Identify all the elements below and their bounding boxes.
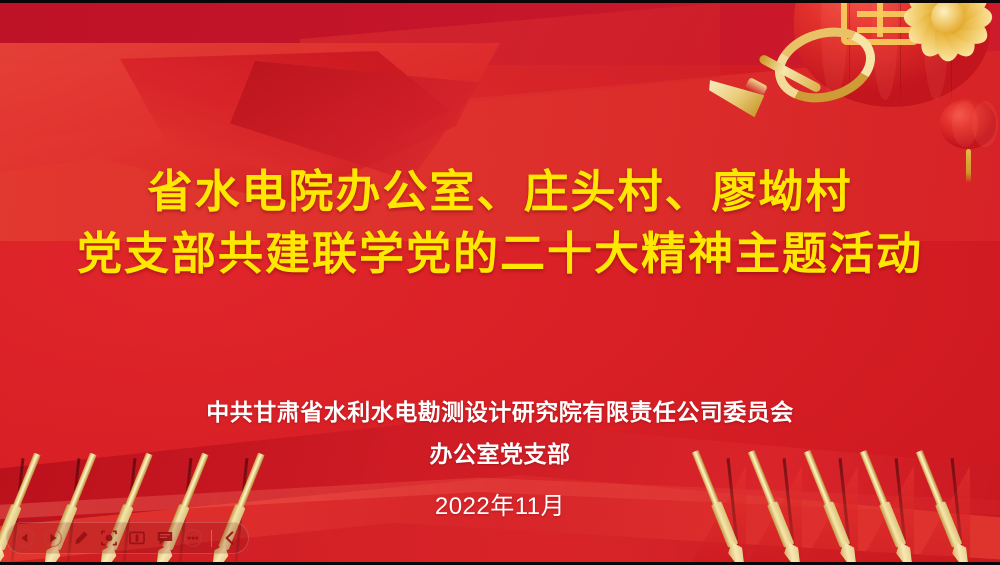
presentation-toolbar[interactable] bbox=[6, 522, 249, 554]
lantern-rib bbox=[972, 101, 998, 147]
brush-ring bbox=[766, 16, 884, 113]
slide-subtitle: 中共甘肃省水利水电勘测设计研究院有限责任公司委员会 办公室党支部 bbox=[0, 391, 1000, 475]
presentation-slide: 省水电院办公室、庄头村、廖坳村 党支部共建联学党的二十大精神主题活动 中共甘肃省… bbox=[0, 0, 1000, 565]
flower-petal bbox=[936, 9, 982, 62]
top-color-band bbox=[0, 3, 1000, 65]
lantern-rib bbox=[872, 0, 898, 100]
silk-ribbon-back bbox=[300, 3, 720, 123]
subtitle-line-1: 中共甘肃省水利水电勘测设计研究院有限责任公司委员会 bbox=[0, 391, 1000, 433]
lantern-icon bbox=[794, 0, 990, 107]
whiteboard-button[interactable] bbox=[123, 525, 151, 551]
pole-tip bbox=[837, 539, 862, 565]
lantern-rib bbox=[900, 0, 901, 100]
fu-character-emblem bbox=[841, 0, 919, 45]
gold-flower-icon bbox=[896, 0, 1000, 65]
slide-title: 省水电院办公室、庄头村、廖坳村 党支部共建联学党的二十大精神主题活动 bbox=[0, 161, 1000, 285]
collapse-toolbar-button[interactable] bbox=[216, 525, 244, 551]
flower-petal bbox=[940, 0, 993, 29]
lantern-body bbox=[794, 0, 990, 107]
pen-button[interactable] bbox=[67, 525, 95, 551]
play-button[interactable] bbox=[39, 525, 67, 551]
previous-slide-button[interactable] bbox=[11, 525, 39, 551]
flower-petal bbox=[903, 0, 956, 29]
flower-petal bbox=[935, 15, 961, 61]
more-options-button[interactable] bbox=[179, 525, 207, 551]
lantern-rib bbox=[821, 0, 847, 100]
lantern-body bbox=[940, 99, 996, 149]
comment-button[interactable] bbox=[151, 525, 179, 551]
flower-petal bbox=[936, 0, 982, 25]
brush-handle bbox=[758, 54, 822, 94]
lantern-rib bbox=[951, 0, 952, 100]
brush-tip bbox=[704, 73, 765, 118]
pole-tip bbox=[949, 539, 974, 565]
flower-petal bbox=[915, 9, 961, 62]
flower-petal bbox=[940, 5, 993, 51]
flower-petal bbox=[904, 4, 950, 30]
spotlight-button[interactable] bbox=[95, 525, 123, 551]
lantern-rib bbox=[849, 0, 850, 100]
flower-petal bbox=[915, 0, 961, 25]
brush-ferrule bbox=[744, 77, 768, 98]
flower-core bbox=[931, 0, 965, 34]
lantern-rib bbox=[923, 0, 949, 100]
flower-petal bbox=[935, 0, 961, 19]
pole-tip bbox=[0, 542, 8, 565]
date-text: 2022年11月 bbox=[0, 492, 1000, 522]
title-line-1: 省水电院办公室、庄头村、廖坳村 bbox=[0, 161, 1000, 223]
pole-tip bbox=[893, 539, 918, 565]
lantern-rib bbox=[952, 101, 978, 147]
lantern-small-icon bbox=[940, 99, 996, 149]
toolbar-divider bbox=[211, 530, 212, 547]
calligraphy-brush-icon bbox=[712, 25, 872, 135]
slide-date: 2022年11月 bbox=[0, 492, 1000, 522]
flower-petal bbox=[903, 5, 956, 51]
pole-tip bbox=[781, 539, 806, 565]
subtitle-line-2: 办公室党支部 bbox=[0, 433, 1000, 475]
flower-petal bbox=[946, 4, 992, 30]
title-line-2: 党支部共建联学党的二十大精神主题活动 bbox=[0, 223, 1000, 285]
pole-tip bbox=[725, 539, 750, 565]
